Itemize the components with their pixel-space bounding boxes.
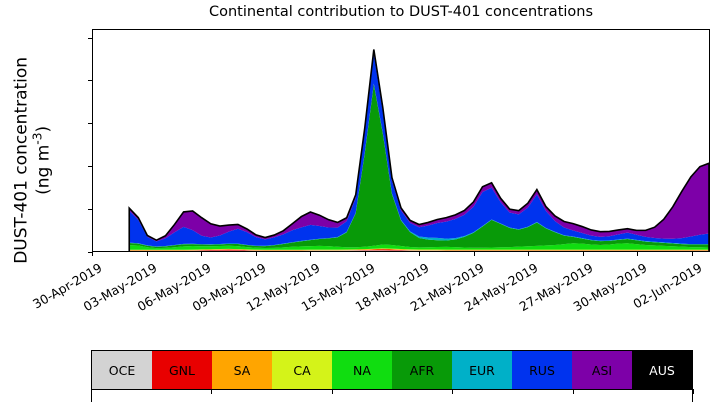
x-tick-mark xyxy=(201,252,202,256)
legend-item-rus[interactable]: RUS xyxy=(512,351,572,389)
legend-item-label: ASI xyxy=(592,363,612,378)
legend-axis-tick xyxy=(573,389,574,394)
legend-item-na[interactable]: NA xyxy=(332,351,392,389)
legend-item-gnl[interactable]: GNL xyxy=(152,351,212,389)
legend-item-label: OCE xyxy=(109,363,135,378)
y-axis-label-line2-end: ) xyxy=(33,126,53,133)
x-tick-mark xyxy=(147,252,148,256)
x-tick-mark xyxy=(528,252,529,256)
x-tick-mark xyxy=(419,252,420,256)
legend-item-asi[interactable]: ASI xyxy=(572,351,632,389)
x-tick-mark xyxy=(92,252,93,256)
legend-item-label: AFR xyxy=(410,363,434,378)
x-tick-mark xyxy=(256,252,257,256)
legend: OCEGNLSACANAAFREURRUSASIAUS xyxy=(91,350,693,390)
y-axis-label-line1: DUST-401 concentration xyxy=(12,57,32,264)
legend-item-sa[interactable]: SA xyxy=(212,351,272,389)
x-tick-mark xyxy=(310,252,311,256)
legend-item-label: EUR xyxy=(469,363,495,378)
legend-item-ca[interactable]: CA xyxy=(272,351,332,389)
legend-bottom-axis xyxy=(91,389,693,402)
legend-axis-side xyxy=(692,389,693,402)
x-tick-mark xyxy=(583,252,584,256)
area-series-aus xyxy=(129,50,709,241)
legend-item-aus[interactable]: AUS xyxy=(632,351,692,389)
area-series-eur xyxy=(129,84,709,247)
area-series-afr xyxy=(129,84,709,248)
legend-item-label: NA xyxy=(353,363,371,378)
x-tick-mark xyxy=(474,252,475,256)
figure-canvas: Continental contribution to DUST-401 con… xyxy=(0,0,721,402)
legend-item-label: AUS xyxy=(649,363,675,378)
legend-axis-line xyxy=(91,389,693,390)
total-outline xyxy=(129,50,709,251)
legend-axis-side xyxy=(91,389,92,402)
stacked-area-plot xyxy=(93,30,709,251)
legend-item-label: CA xyxy=(293,363,310,378)
plot-area xyxy=(92,29,710,252)
legend-item-eur[interactable]: EUR xyxy=(452,351,512,389)
legend-axis-tick xyxy=(211,389,212,394)
x-tick-mark xyxy=(637,252,638,256)
area-series-rus xyxy=(129,54,709,247)
legend-item-label: RUS xyxy=(529,363,555,378)
y-axis-label: DUST-401 concentration (ng m-3) xyxy=(13,30,54,290)
x-tick-mark xyxy=(692,252,693,256)
legend-item-oce[interactable]: OCE xyxy=(92,351,152,389)
legend-item-label: SA xyxy=(234,363,251,378)
legend-axis-tick xyxy=(693,389,694,394)
y-axis-label-exponent: -3 xyxy=(31,133,45,145)
legend-axis-tick xyxy=(332,389,333,394)
legend-axis-tick xyxy=(452,389,453,394)
area-series-asi xyxy=(129,50,709,242)
legend-item-label: GNL xyxy=(169,363,195,378)
x-tick-mark xyxy=(365,252,366,256)
legend-item-afr[interactable]: AFR xyxy=(392,351,452,389)
chart-title: Continental contribution to DUST-401 con… xyxy=(92,4,710,20)
y-axis-label-line2: (ng m xyxy=(33,145,53,195)
